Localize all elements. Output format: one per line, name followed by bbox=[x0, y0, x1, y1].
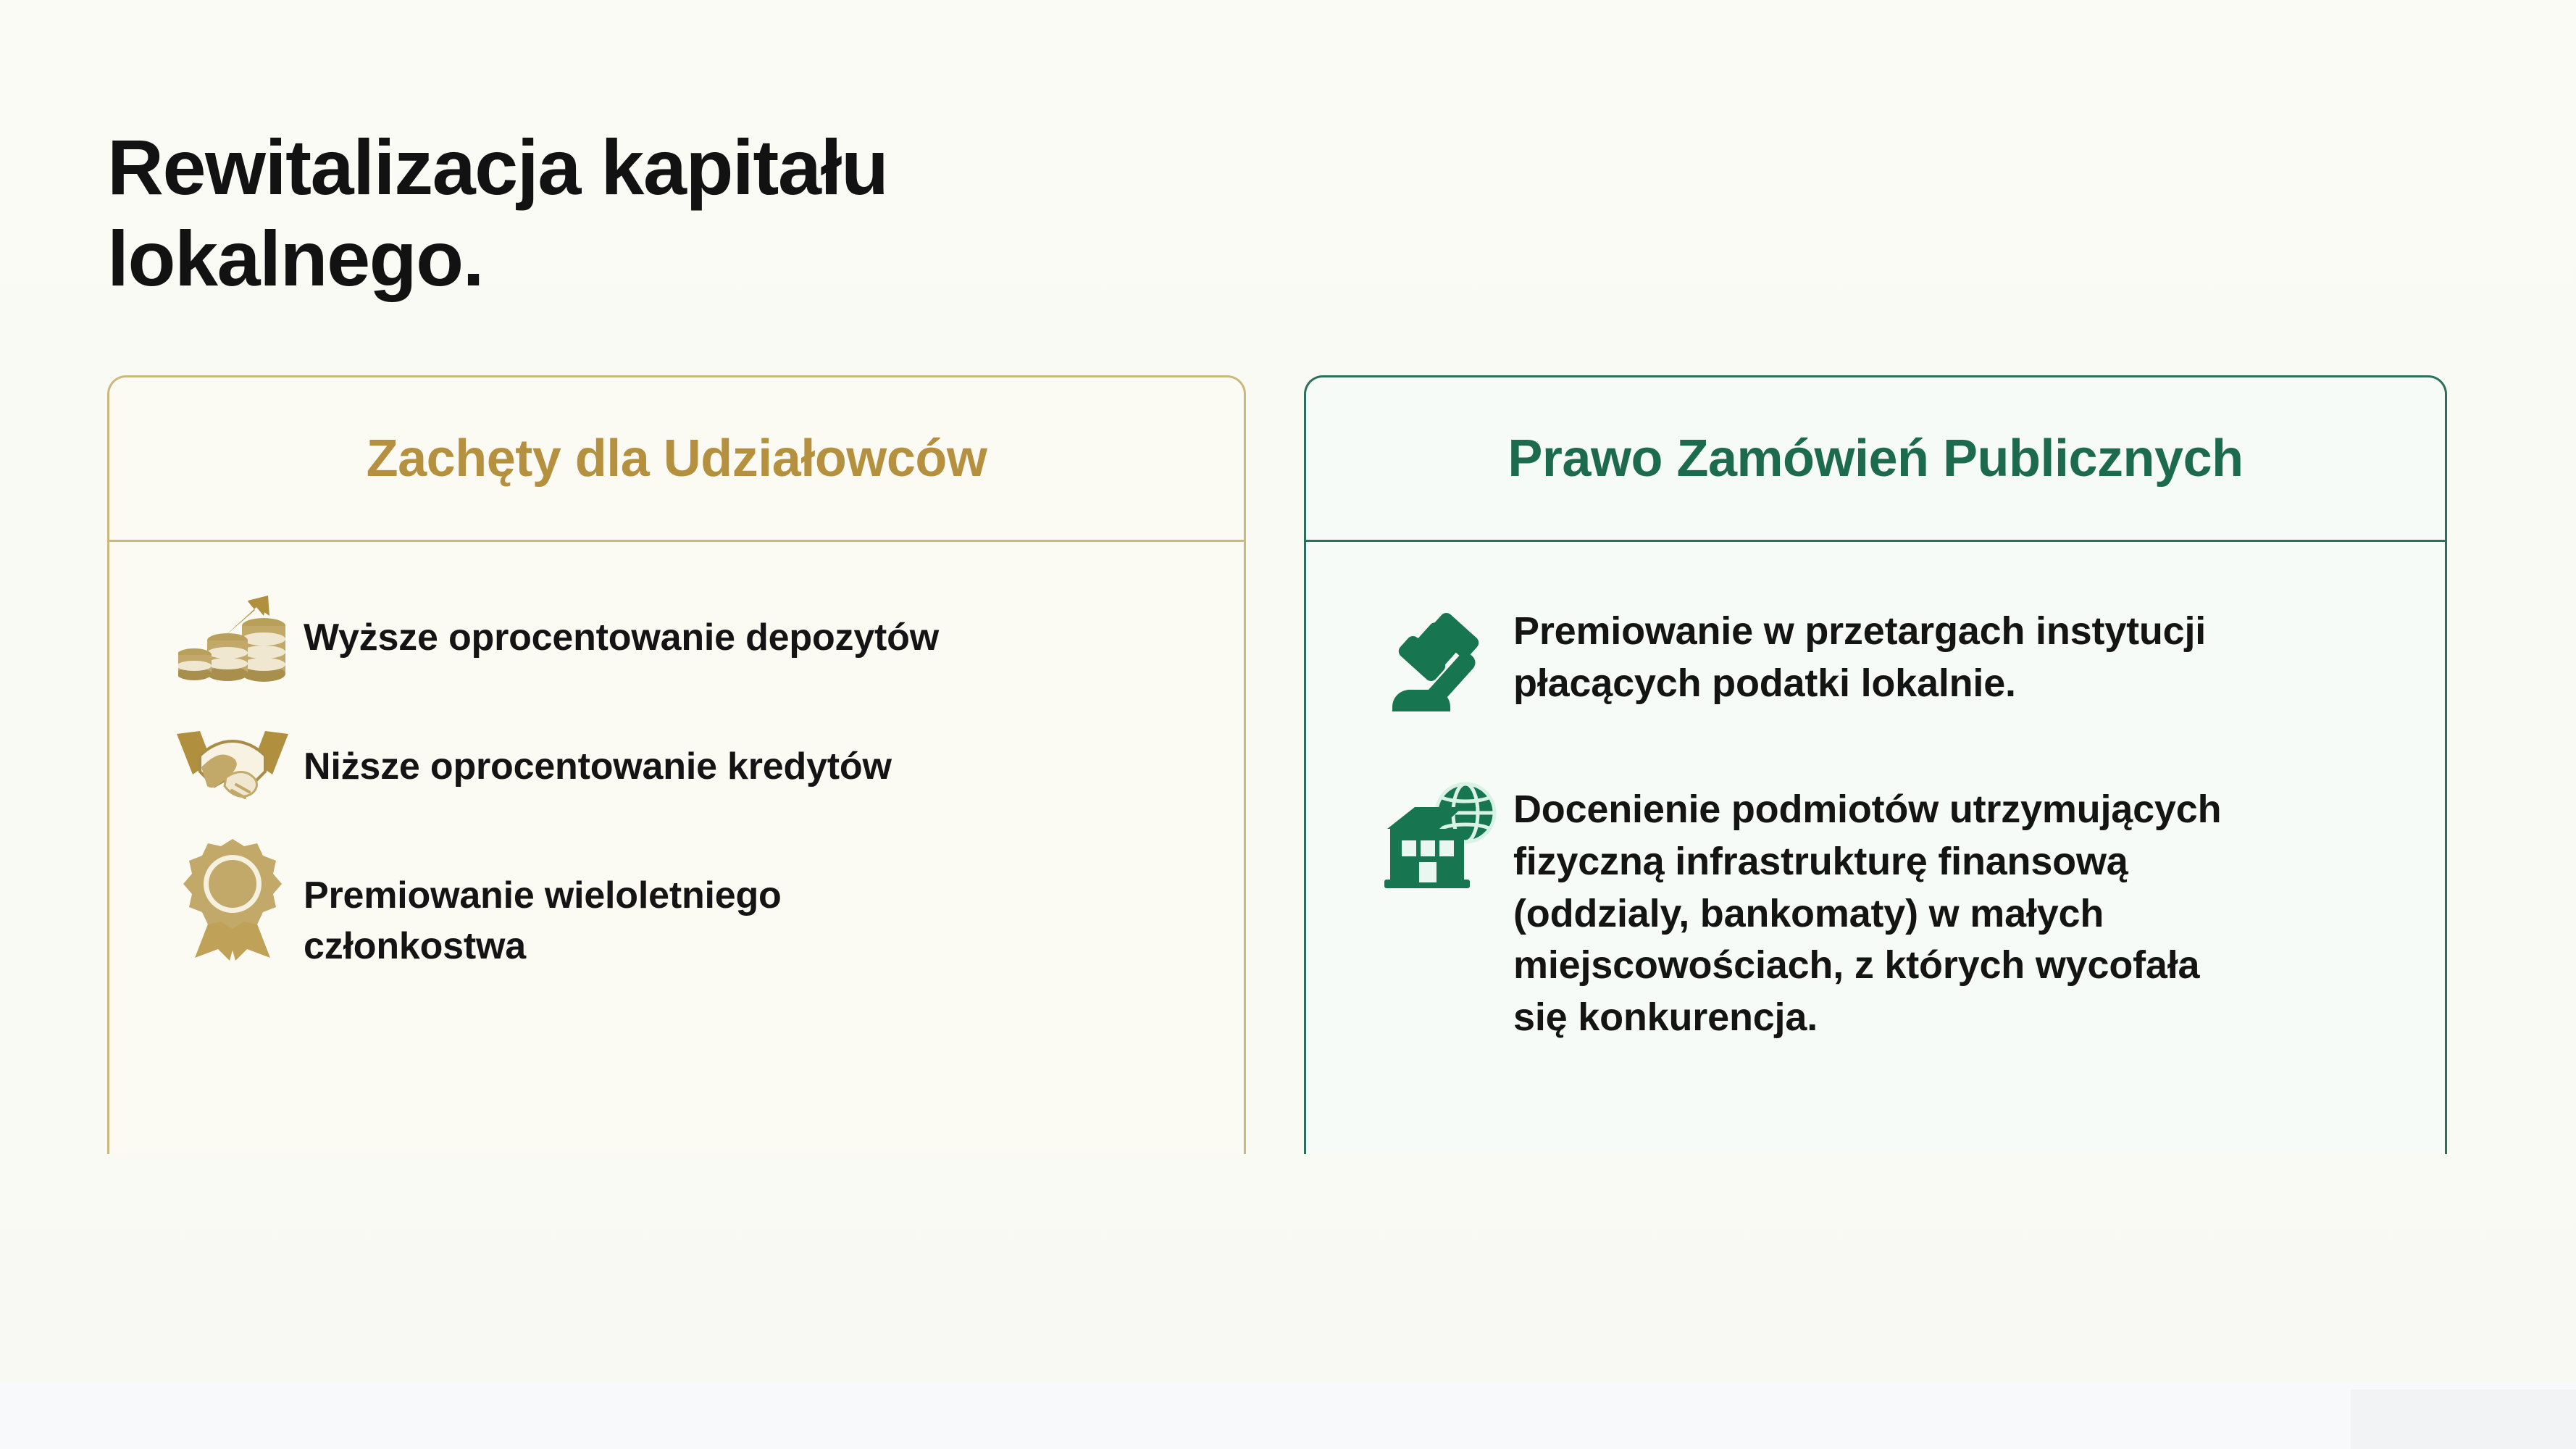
list-item-text: Premiowanie wieloletniego członkostwa bbox=[304, 845, 1193, 972]
list-item-text: Wyższe oprocentowanie depozytów bbox=[304, 587, 1193, 664]
handshake-icon bbox=[162, 716, 304, 824]
bottom-strip bbox=[0, 1382, 2576, 1449]
card-zachety-body: Wyższe oprocentowanie depozytów bbox=[109, 542, 1244, 972]
card-zachety-title: Zachęty dla Udziałowców bbox=[367, 429, 987, 488]
list-item-text: Docenienie podmiotów utrzymujących fizyc… bbox=[1513, 771, 2399, 1044]
coins-growth-icon bbox=[162, 587, 304, 696]
list-item-text: Niższe oprocentowanie kredytów bbox=[304, 716, 1193, 793]
page-title-line-1: Rewitalizacja kapitału bbox=[107, 122, 1556, 212]
list-item-text: Premiowanie w przetargach instytucji pła… bbox=[1513, 593, 2399, 710]
list-item: Docenienie podmiotów utrzymujących fizyc… bbox=[1368, 771, 2399, 1044]
list-item: Premiowanie wieloletniego członkostwa bbox=[162, 845, 1193, 972]
card-zachety-header: Zachęty dla Udziałowców bbox=[109, 377, 1244, 542]
cards-row: Zachęty dla Udziałowców bbox=[0, 375, 2576, 1154]
award-ribbon-icon bbox=[162, 845, 304, 953]
card-prawo-header: Prawo Zamówień Publicznych bbox=[1306, 377, 2445, 542]
card-prawo-title: Prawo Zamówień Publicznych bbox=[1507, 429, 2243, 488]
card-zachety: Zachęty dla Udziałowców bbox=[107, 375, 1246, 1154]
card-prawo-body: Premiowanie w przetargach instytucji pła… bbox=[1306, 542, 2445, 1044]
bottom-right-block bbox=[2351, 1390, 2576, 1449]
bank-globe-icon bbox=[1368, 771, 1513, 906]
page-title-line-2: lokalnego. bbox=[107, 213, 1556, 304]
page-title: Rewitalizacja kapitału lokalnego. bbox=[107, 122, 1556, 304]
list-item: Niższe oprocentowanie kredytów bbox=[162, 716, 1193, 824]
list-item: Premiowanie w przetargach instytucji pła… bbox=[1368, 593, 2399, 727]
card-prawo: Prawo Zamówień Publicznych bbox=[1304, 375, 2447, 1154]
list-item: Wyższe oprocentowanie depozytów bbox=[162, 587, 1193, 696]
slide-canvas: Rewitalizacja kapitału lokalnego. Zachęt… bbox=[0, 0, 2576, 1449]
gavel-icon bbox=[1368, 593, 1513, 727]
